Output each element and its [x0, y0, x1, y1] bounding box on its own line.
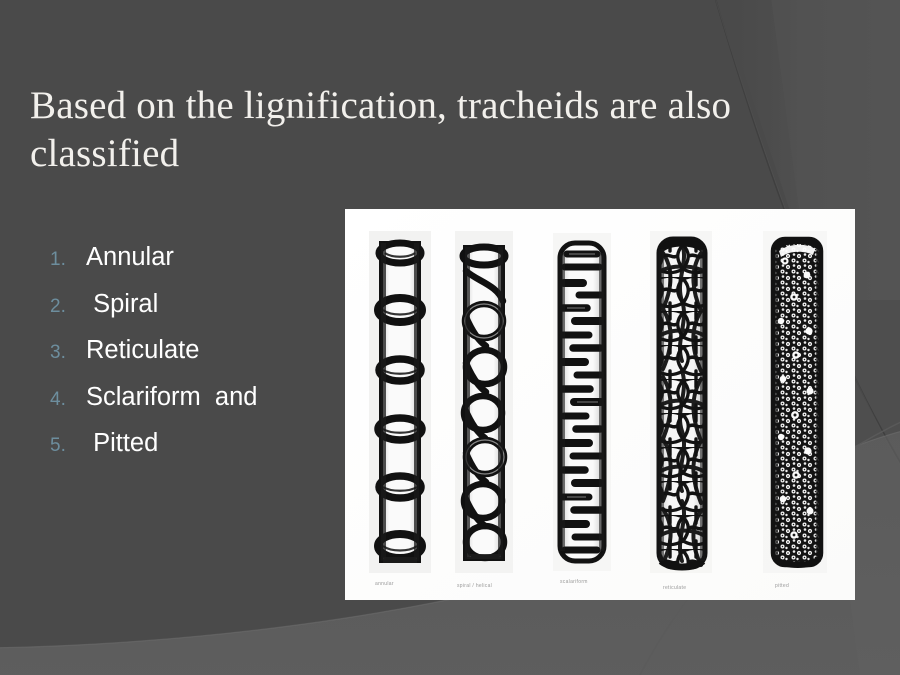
figure-caption: scalariform	[560, 579, 588, 585]
figure-caption: annular	[375, 581, 394, 587]
list-item: 2. Spiral	[50, 292, 350, 339]
list-item: 4. Sclariform and	[50, 385, 350, 432]
list-item-label: Pitted	[86, 431, 158, 457]
list-item-number: 4.	[50, 390, 86, 409]
list-item-label: Spiral	[86, 292, 158, 318]
figure-caption: pitted	[775, 583, 789, 589]
cylinder-scalariform: scalariform	[553, 233, 611, 585]
list-item: 3. Reticulate	[50, 338, 350, 385]
list-item-label: Reticulate	[86, 338, 199, 364]
list-item-label: Annular	[86, 245, 174, 271]
list-item: 5. Pitted	[50, 431, 350, 478]
figure-caption: spiral / helical	[457, 583, 492, 589]
list-item: 1. Annular	[50, 245, 350, 292]
list-item-number: 1.	[50, 250, 86, 269]
presentation-slide: Based on the lignification, tracheids ar…	[0, 0, 900, 675]
cylinder-annular: annular	[369, 231, 431, 587]
cylinder-spiral: spiral / helical	[455, 231, 513, 589]
list-item-number: 2.	[50, 297, 86, 316]
figure-caption: reticulate	[663, 585, 686, 591]
slide-title: Based on the lignification, tracheids ar…	[30, 82, 820, 179]
list-item-number: 3.	[50, 343, 86, 362]
cylinder-reticulate: reticulate	[650, 231, 712, 591]
numbered-list: 1. Annular 2. Spiral 3. Reticulate 4. Sc…	[50, 245, 350, 478]
list-item-label: Sclariform and	[86, 385, 257, 411]
tracheid-types-illustration: annular	[345, 209, 855, 600]
cylinder-pitted: pitted	[763, 231, 827, 589]
list-item-number: 5.	[50, 436, 86, 455]
figure-image-panel: annular	[345, 209, 855, 600]
